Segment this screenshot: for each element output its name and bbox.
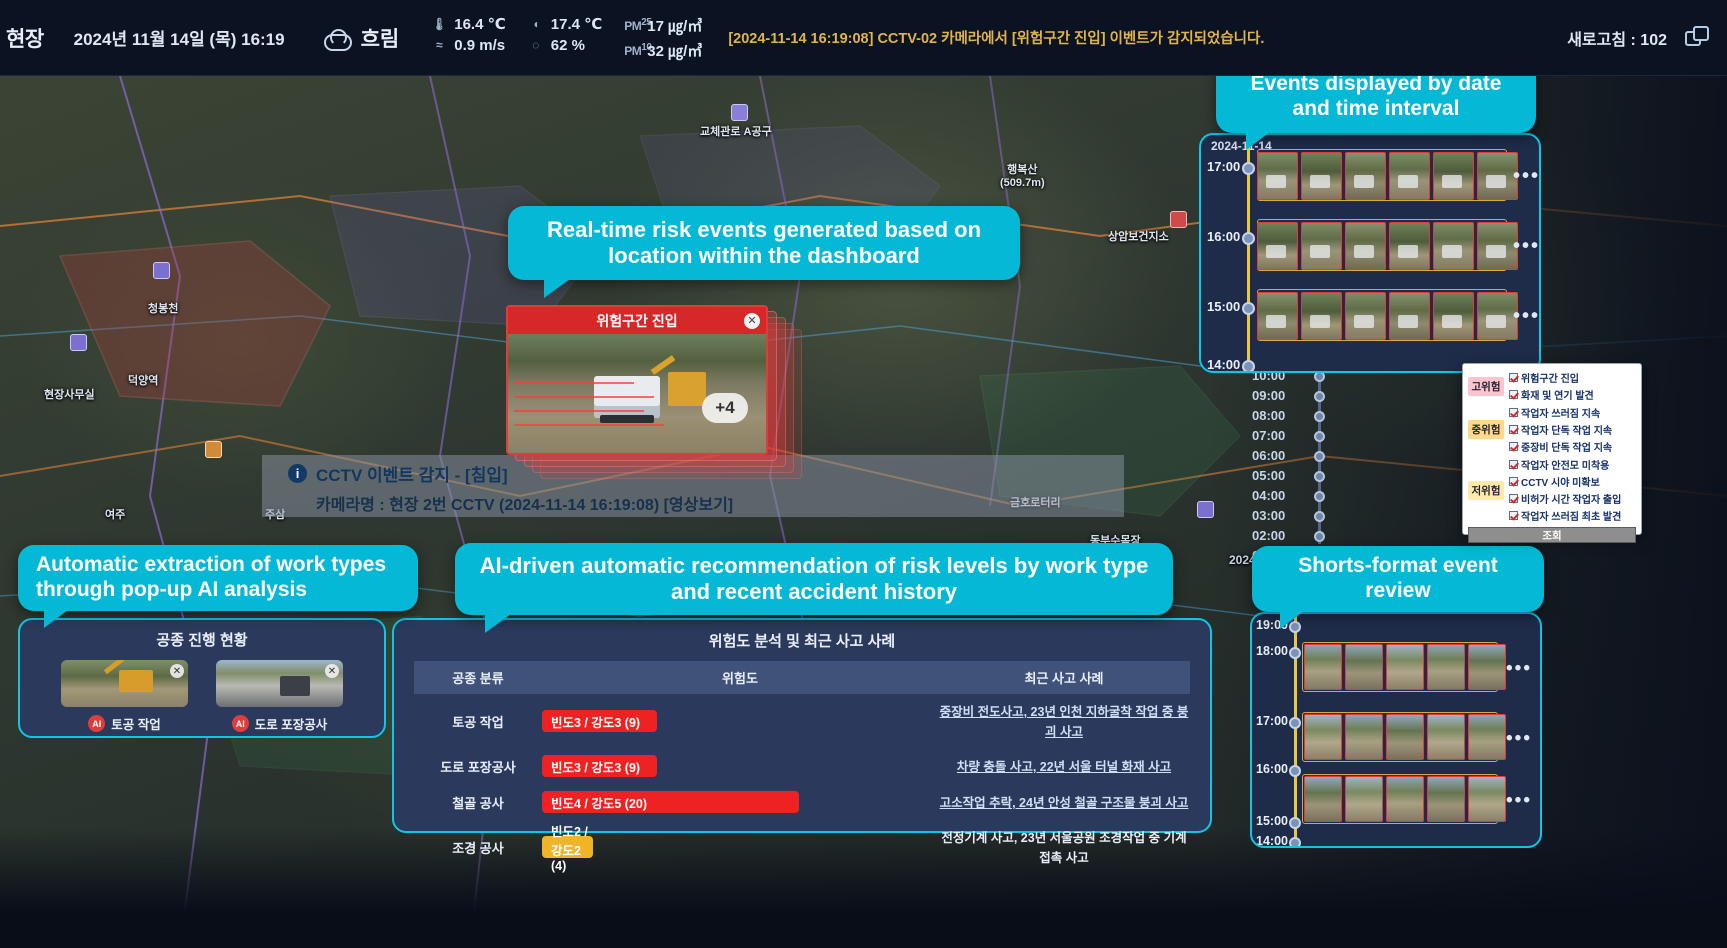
risk-checkbox-item[interactable]: 작업자 쓰러짐 지속 [1509, 405, 1636, 420]
shorts-thumbnail[interactable] [1345, 714, 1383, 760]
event-thumbnail[interactable] [1345, 152, 1386, 200]
timeline-time-15: 15:00 [1207, 299, 1240, 314]
axis-time: 09:00 [1252, 388, 1285, 403]
risk-level-filter-popup[interactable]: 고위험 위험구간 진입 화재 및 연기 발견 중위험 작업자 쓰러짐 지속 [1462, 363, 1642, 535]
shorts-dot[interactable] [1289, 717, 1301, 729]
risk-event-card[interactable]: 위험구간 진입 ✕ +4 [506, 305, 768, 455]
row-risk-cell: 빈도2 / 강도2 (4) [542, 820, 938, 874]
shorts-thumbnail[interactable] [1468, 644, 1506, 690]
map-marker[interactable] [70, 334, 87, 351]
timeline-dot[interactable] [1242, 232, 1255, 245]
risk-group-low: 저위험 작업자 안전모 미착용 CCTV 시야 미확보 비허가 시간 작업자 출… [1468, 457, 1636, 523]
work-type-label-row: AI 도로 포장공사 [216, 714, 343, 733]
callout-realtime-risk: Real-time risk events generated based on… [508, 206, 1020, 280]
accident-case-link[interactable]: 중장비 전도사고, 23년 인천 지하굴착 작업 중 붕괴 사고 [940, 705, 1189, 739]
shorts-time-15: 15:00 [1256, 814, 1288, 828]
event-more-count[interactable]: +4 [702, 393, 748, 423]
photo-excavator [668, 372, 706, 406]
map-label: 현장사무실 [44, 386, 95, 402]
close-icon[interactable]: ✕ [744, 313, 760, 329]
risk-score-bar: 빈도2 / 강도2 (4) [542, 836, 593, 858]
event-thumbnail[interactable] [1301, 152, 1342, 200]
row-case-cell[interactable]: 차량 충돌 사고, 22년 서울 터널 화재 사고 [938, 748, 1190, 784]
weather-label: 흐림 [361, 23, 400, 53]
map-marker-warn[interactable] [205, 441, 222, 458]
shorts-thumb-row[interactable] [1304, 776, 1506, 822]
callout-work-type: Automatic extraction of work types throu… [18, 545, 418, 611]
axis-time: 06:00 [1252, 448, 1285, 463]
checkbox-checked-icon[interactable] [1509, 425, 1518, 434]
risk-event-popup-stack[interactable]: 위험구간 진입 ✕ +4 [506, 305, 816, 485]
axis-dot[interactable] [1314, 411, 1325, 422]
column-header-case: 최근 사고 사례 [938, 661, 1190, 694]
shorts-thumbnail[interactable] [1427, 776, 1465, 822]
event-thumbnail[interactable] [1389, 222, 1430, 270]
column-header-risk: 위험도 [542, 661, 938, 694]
shorts-dot[interactable] [1289, 817, 1301, 829]
shorts-thumbnail[interactable] [1427, 644, 1465, 690]
risk-badge-high: 고위험 [1468, 377, 1504, 396]
event-thumbnail[interactable] [1389, 292, 1430, 340]
work-type-label-row: AI 토공 작업 [61, 714, 188, 733]
risk-checkbox-item[interactable]: 중장비 단독 작업 지속 [1509, 439, 1636, 454]
risk-checkbox-item[interactable]: 작업자 단독 작업 지속 [1509, 422, 1636, 437]
work-type-item[interactable]: ✕ AI 토공 작업 [61, 660, 188, 733]
more-dots-icon[interactable]: ••• [1506, 658, 1532, 680]
metric-temperature: 🌡 16.4 ℃ [431, 15, 506, 33]
row-case-cell: 전정기계 사고, 23년 서울공원 조경작업 중 기계 접촉 사고 [938, 820, 1190, 874]
row-category: 철골 공사 [414, 784, 542, 820]
ai-badge-icon: AI [88, 715, 105, 732]
accident-case-link[interactable]: 고소작업 추락, 24년 안성 철골 구조물 붕괴 사고 [940, 796, 1189, 810]
timeline-thumb-row[interactable] [1257, 292, 1518, 340]
shorts-thumbnail[interactable] [1386, 776, 1424, 822]
shorts-review-panel[interactable]: 19:00 18:00 ••• 17:00 ••• 16:00 [1250, 612, 1542, 848]
table-row: 조경 공사 빈도2 / 강도2 (4) 전정기계 사고, 23년 서울공원 조경… [414, 820, 1190, 874]
shorts-thumbnail[interactable] [1304, 776, 1342, 822]
axis-dot[interactable] [1314, 491, 1325, 502]
axis-dot[interactable] [1314, 431, 1325, 442]
row-case-cell[interactable]: 중장비 전도사고, 23년 인천 지하굴착 작업 중 붕괴 사고 [938, 694, 1190, 748]
humidity-icon: ◌ [528, 39, 544, 51]
work-type-name: 토공 작업 [111, 714, 160, 733]
axis-dot[interactable] [1314, 471, 1325, 482]
shorts-dot[interactable] [1289, 647, 1301, 659]
more-dots-icon[interactable]: ••• [1513, 235, 1540, 258]
shorts-time-16: 16:00 [1256, 762, 1288, 776]
row-risk-cell: 빈도3 / 강도3 (9) [542, 694, 938, 748]
shorts-thumb-row[interactable] [1304, 644, 1506, 690]
risk-score-bar: 빈도3 / 강도3 (9) [542, 710, 657, 732]
event-thumbnail[interactable] [1477, 292, 1518, 340]
info-icon: i [288, 464, 307, 483]
map-label: 상암보건지소 [1108, 228, 1169, 244]
risk-analysis-panel: 위험도 분석 및 최근 사고 사례 공종 분류 위험도 최근 사고 사례 토공 … [392, 618, 1212, 833]
risk-analysis-table: 공종 분류 위험도 최근 사고 사례 토공 작업 빈도3 / 강도3 (9) 중… [414, 661, 1190, 874]
event-thumbnail[interactable] [1345, 222, 1386, 270]
map-label: 여주 [105, 506, 125, 522]
axis-time: 07:00 [1252, 428, 1285, 443]
map-marker[interactable] [731, 104, 748, 121]
map-label: 청봉천 [148, 300, 178, 316]
checkbox-checked-icon[interactable] [1509, 460, 1518, 469]
shorts-thumbnail[interactable] [1304, 644, 1342, 690]
dashboard-root: 현장 2024년 11월 14일 (목) 16:19 흐림 🌡 16.4 ℃ ≈… [0, 0, 1727, 948]
risk-checkbox-item[interactable]: 작업자 쓰러짐 최초 발견 [1509, 508, 1636, 523]
current-datetime: 2024년 11월 14일 (목) 16:19 [74, 25, 285, 50]
risk-badge-mid: 중위험 [1468, 420, 1504, 439]
metric-pm25: PM25 17 ㎍/㎥ [624, 15, 702, 36]
accident-case-link[interactable]: 차량 충돌 사고, 22년 서울 터널 화재 사고 [957, 760, 1171, 774]
axis-dot[interactable] [1314, 451, 1325, 462]
more-dots-icon[interactable]: ••• [1513, 305, 1540, 328]
more-dots-icon[interactable]: ••• [1513, 165, 1540, 188]
timeline-dot[interactable] [1242, 162, 1255, 175]
checkbox-checked-icon[interactable] [1509, 477, 1518, 486]
more-dots-icon[interactable]: ••• [1506, 728, 1532, 750]
risk-items-low: 작업자 안전모 미착용 CCTV 시야 미확보 비허가 시간 작업자 출입 작업… [1509, 457, 1636, 523]
work-type-name: 도로 포장공사 [255, 714, 327, 733]
event-thumbnail[interactable] [1257, 292, 1298, 340]
excavator-thumbnail[interactable]: ✕ [61, 660, 188, 707]
risk-group-mid: 중위험 작업자 쓰러짐 지속 작업자 단독 작업 지속 중장비 단독 작업 지속 [1468, 405, 1636, 454]
detection-line [514, 382, 634, 384]
risk-items-mid: 작업자 쓰러짐 지속 작업자 단독 작업 지속 중장비 단독 작업 지속 [1509, 405, 1636, 454]
timeline-time-16: 16:00 [1207, 229, 1240, 244]
shorts-thumbnail[interactable] [1386, 714, 1424, 760]
table-row: 철골 공사 빈도4 / 강도5 (20) 고소작업 추락, 24년 안성 철골 … [414, 784, 1190, 820]
close-icon[interactable]: ✕ [170, 664, 184, 678]
risk-checkbox-item[interactable]: 화재 및 연기 발견 [1509, 387, 1636, 402]
timeline-thumb-row[interactable] [1257, 222, 1518, 270]
event-thumbnail[interactable] [1433, 292, 1474, 340]
top-status-bar: 현장 2024년 11월 14일 (목) 16:19 흐림 🌡 16.4 ℃ ≈… [0, 0, 1727, 76]
shorts-time-14: 14:00 [1256, 834, 1288, 848]
axis-time: 03:00 [1252, 508, 1285, 523]
map-marker-alert[interactable] [1170, 211, 1187, 228]
metric-pm10: PM10 32 ㎍/㎥ [624, 40, 702, 61]
axis-time: 04:00 [1252, 488, 1285, 503]
shorts-thumbnail[interactable] [1468, 776, 1506, 822]
event-thumbnail[interactable] [1433, 222, 1474, 270]
alert-ticker: [2024-11-14 16:19:08] CCTV-02 카메라에서 [위험구… [728, 27, 1264, 48]
cctv-camera-detail[interactable]: 카메라명 : 현장 2번 CCTV (2024-11-14 16:19:08) … [316, 491, 1124, 515]
timeline-dot[interactable] [1242, 360, 1255, 373]
axis-time: 05:00 [1252, 468, 1285, 483]
metric-wind: ≈ 0.9 m/s [431, 37, 506, 54]
refresh-counter: 새로고침 : 102 [1567, 26, 1667, 50]
work-type-grid: ✕ AI 토공 작업 ✕ AI 도로 포장공사 [20, 660, 384, 733]
work-progress-panel: 공종 진행 현황 ✕ AI 토공 작업 ✕ AI 도로 포 [18, 618, 386, 738]
event-thumbnail[interactable] [1301, 292, 1342, 340]
row-risk-cell: 빈도3 / 강도3 (9) [542, 748, 938, 784]
event-thumbnail[interactable] [1301, 222, 1342, 270]
work-type-item[interactable]: ✕ AI 도로 포장공사 [216, 660, 343, 733]
row-case-cell[interactable]: 고소작업 추락, 24년 안성 철골 구조물 붕괴 사고 [938, 784, 1190, 820]
detection-line [514, 396, 654, 398]
checkbox-checked-icon[interactable] [1509, 408, 1518, 417]
risk-table-title: 위험도 분석 및 최근 사고 사례 [394, 620, 1210, 651]
checkbox-checked-icon[interactable] [1509, 442, 1518, 451]
event-thumbnail[interactable] [1433, 152, 1474, 200]
risk-checkbox-item[interactable]: 위험구간 진입 [1509, 370, 1636, 385]
shorts-thumbnail[interactable] [1304, 714, 1342, 760]
risk-score-bar: 빈도3 / 강도3 (9) [542, 755, 657, 777]
shorts-time-18: 18:00 [1256, 644, 1288, 658]
checkbox-checked-icon[interactable] [1509, 494, 1518, 503]
risk-checkbox-item[interactable]: CCTV 시야 미확보 [1509, 474, 1636, 489]
metric-feels-like: ◖ 17.4 ℃ [528, 15, 603, 33]
shorts-thumbnail[interactable] [1427, 714, 1465, 760]
event-thumbnail[interactable] [1345, 292, 1386, 340]
timeline-time-17: 17:00 [1207, 159, 1240, 174]
shorts-dot[interactable] [1289, 765, 1301, 777]
row-category: 도로 포장공사 [414, 748, 542, 784]
checkbox-checked-icon[interactable] [1509, 511, 1518, 520]
weather-block: 흐림 [321, 23, 400, 53]
axis-dot[interactable] [1314, 391, 1325, 402]
roller-shape [280, 676, 310, 696]
risk-group-high: 고위험 위험구간 진입 화재 및 연기 발견 [1468, 370, 1636, 402]
shorts-dot[interactable] [1289, 837, 1301, 848]
metric-humidity: ◌ 62 % [528, 37, 603, 54]
row-category: 토공 작업 [414, 694, 542, 748]
close-icon[interactable]: ✕ [325, 664, 339, 678]
shorts-thumbnail[interactable] [1386, 644, 1424, 690]
detection-line [514, 410, 644, 412]
checkbox-checked-icon[interactable] [1509, 390, 1518, 399]
event-thumbnail[interactable] [1257, 152, 1298, 200]
site-name: 현장 [0, 23, 44, 53]
timeline-axis-continued: 10:00 09:00 08:00 07:00 06:00 05:00 04:0… [1252, 368, 1372, 568]
map-label: 교체관로 A공구 [700, 123, 772, 139]
ai-badge-icon: AI [232, 715, 249, 732]
feels-like-icon: ◖ [528, 18, 544, 30]
shorts-time-17: 17:00 [1256, 714, 1288, 728]
shorts-thumbnail[interactable] [1345, 644, 1383, 690]
cctv-event-title: CCTV 이벤트 감지 - [침입] [316, 461, 508, 486]
event-thumbnail[interactable] [1477, 222, 1518, 270]
timeline-dot[interactable] [1242, 302, 1255, 315]
axis-dot[interactable] [1314, 511, 1325, 522]
topbar-right: 새로고침 : 102 [1567, 26, 1727, 50]
event-thumbnail[interactable] [1477, 152, 1518, 200]
shorts-thumb-row[interactable] [1304, 714, 1506, 760]
table-header-row: 공종 분류 위험도 최근 사고 사례 [414, 661, 1190, 694]
axis-time: 08:00 [1252, 408, 1285, 423]
callout-ai-risk: AI-driven automatic recommendation of ri… [455, 543, 1173, 615]
events-timeline-panel[interactable]: 2024-11-14 17:00 ••• 16:00 ••• 15:00 [1199, 133, 1541, 373]
checkbox-checked-icon[interactable] [1509, 373, 1518, 382]
risk-score-bar: 빈도4 / 강도5 (20) [542, 791, 799, 813]
row-category: 조경 공사 [414, 820, 542, 874]
shorts-thumbnail[interactable] [1345, 776, 1383, 822]
map-label: 덕양역 [128, 372, 158, 388]
callout-shorts: Shorts-format event review [1252, 546, 1544, 612]
pm10-icon: PM10 [624, 43, 640, 57]
event-thumbnail[interactable] [1257, 222, 1298, 270]
column-header-category: 공종 분류 [414, 661, 542, 694]
risk-search-button[interactable]: 조회 [1468, 527, 1636, 543]
thermometer-icon: 🌡 [431, 18, 447, 30]
pm25-icon: PM25 [624, 18, 640, 32]
shorts-thumbnail[interactable] [1468, 714, 1506, 760]
axis-dot[interactable] [1314, 531, 1325, 542]
risk-checkbox-item[interactable]: 작업자 안전모 미착용 [1509, 457, 1636, 472]
wind-icon: ≈ [431, 39, 447, 51]
accident-case-text: 전정기계 사고, 23년 서울공원 조경작업 중 기계 접촉 사고 [941, 831, 1186, 865]
work-progress-title: 공종 진행 현황 [20, 620, 384, 650]
windows-icon[interactable] [1685, 26, 1711, 50]
more-dots-icon[interactable]: ••• [1506, 790, 1532, 812]
risk-items-high: 위험구간 진입 화재 및 연기 발견 [1509, 370, 1636, 402]
timeline-thumb-row[interactable] [1257, 152, 1518, 200]
detection-line [514, 424, 664, 426]
risk-checkbox-item[interactable]: 비허가 시간 작업자 출입 [1509, 491, 1636, 506]
event-thumbnail[interactable] [1389, 152, 1430, 200]
risk-badge-low: 저위험 [1468, 481, 1504, 500]
table-row: 토공 작업 빈도3 / 강도3 (9) 중장비 전도사고, 23년 인천 지하굴… [414, 694, 1190, 748]
cloud-icon [321, 27, 351, 49]
axis-time: 02:00 [1252, 528, 1285, 543]
event-title: 위험구간 진입 [508, 307, 766, 334]
weather-metrics: 🌡 16.4 ℃ ≈ 0.9 m/s ◖ 17.4 ℃ ◌ 62 % [431, 15, 702, 61]
timeline-time-14: 14:00 [1207, 357, 1240, 372]
table-row: 도로 포장공사 빈도3 / 강도3 (9) 차량 충돌 사고, 22년 서울 터… [414, 748, 1190, 784]
row-risk-cell: 빈도4 / 강도5 (20) [542, 784, 938, 820]
map-marker[interactable] [153, 262, 170, 279]
map-label: 행복산(509.7m) [1000, 161, 1045, 189]
excavator-shape [119, 670, 153, 692]
road-paving-thumbnail[interactable]: ✕ [216, 660, 343, 707]
